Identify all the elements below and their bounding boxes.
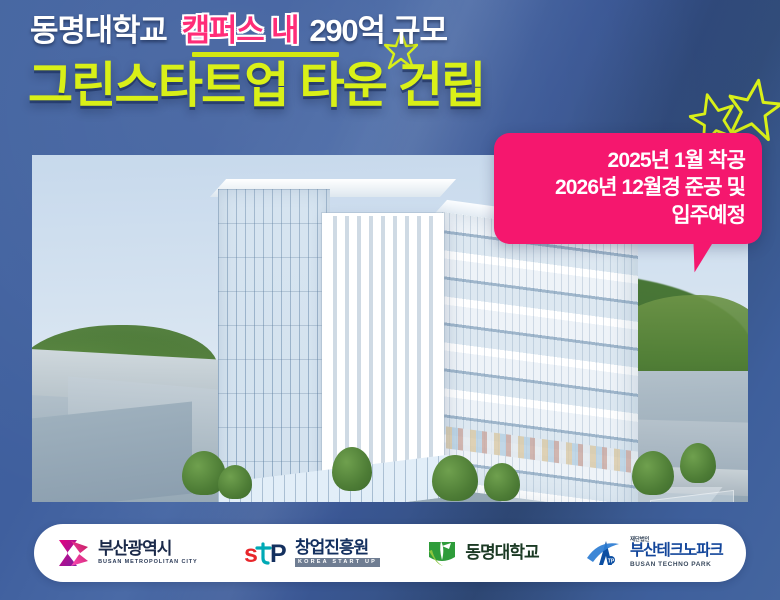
rendering-tree [632,451,674,495]
logo-en-btp: BUSAN TECHNO PARK [630,560,723,569]
tower-glass-curtain-wall [218,189,330,489]
rendering-tree [432,455,478,501]
poster-canvas: 동명대학교캠퍼스 내290억 규모 그린스타트업 타운 건립 [0,0,780,600]
logo-ko-kised: 창업진흥원 [295,539,380,557]
headline-university-name: 동명대학교 [30,13,167,48]
logo-text-btp: 재단법인 부산테크노파크 BUSAN TECHNO PARK [630,537,723,570]
rendering-tree [484,463,520,501]
logo-tongmyong-university: 동명대학교 [426,538,538,568]
svg-text:s: s [244,540,258,567]
tower-vertical-fin-block [322,213,444,473]
callout-line-occupancy: 입주예정 [511,202,745,229]
headline-budget-scale: 290억 규모 [309,13,447,48]
callout-tail [693,242,714,273]
rendering-tree [332,447,372,491]
busan-chevron-icon [57,538,91,568]
logo-ko-tu: 동명대학교 [465,544,538,562]
logo-ko-btp: 부산테크노파크 [630,543,723,559]
logo-busan-metropolitan-city: 부산광역시 BUSAN METROPOLITAN CITY [57,538,197,568]
btp-swoosh-icon: TP [585,538,623,568]
logo-kised: s P 창업진흥원 KOREA START UP [244,539,380,568]
leaf-icon [426,538,458,568]
logo-text-tu: 동명대학교 [465,544,538,562]
logo-text-busan: 부산광역시 BUSAN METROPOLITAN CITY [98,540,197,567]
svg-text:P: P [270,540,287,567]
callout-line-groundbreaking: 2025년 1월 착공 [511,147,745,174]
logo-ko-busan: 부산광역시 [98,540,197,558]
logo-busan-techno-park: TP 재단법인 부산테크노파크 BUSAN TECHNO PARK [585,537,723,570]
svg-text:TP: TP [608,558,615,564]
headline-line-2: 그린스타트업 타운 건립 [28,62,484,111]
rendering-slab-c [32,402,192,502]
logo-en-busan: BUSAN METROPOLITAN CITY [98,559,197,567]
logo-en-kised: KOREA START UP [295,558,380,568]
headline-highlight-underline [192,52,339,57]
rendering-tree [680,443,716,483]
headline-line-1: 동명대학교캠퍼스 내290억 규모 [30,15,447,46]
schedule-callout: 2025년 1월 착공 2026년 12월경 준공 및 입주예정 [494,133,762,244]
callout-line-completion: 2026년 12월경 준공 및 [511,174,745,201]
headline-highlight-campus: 캠퍼스 내 [180,13,301,48]
rendering-tree [218,465,252,499]
partner-logo-bar: 부산광역시 BUSAN METROPOLITAN CITY s P 창업진흥원 … [34,524,746,582]
stp-icon: s P [244,539,288,567]
logo-text-kised: 창업진흥원 KOREA START UP [295,539,380,568]
